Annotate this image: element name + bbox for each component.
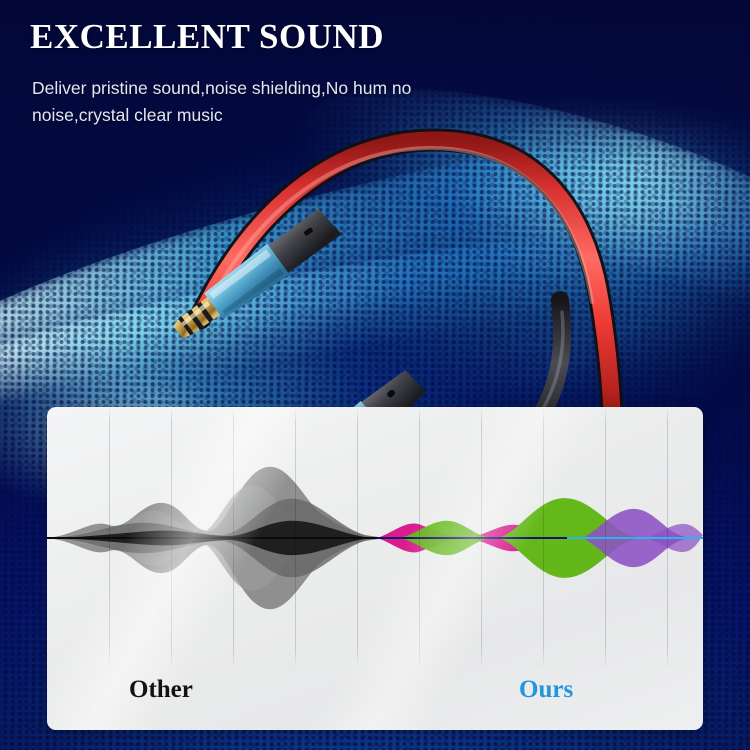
subtitle-text: Deliver pristine sound,noise shielding,N…: [32, 75, 502, 129]
comparison-labels: Other Ours: [47, 676, 703, 716]
page-title: EXCELLENT SOUND: [30, 17, 384, 57]
label-other: Other: [129, 676, 193, 704]
comparison-panel: Other Ours: [47, 407, 703, 730]
label-ours: Ours: [519, 676, 573, 704]
product-banner: EXCELLENT SOUND Deliver pristine sound,n…: [0, 0, 750, 750]
